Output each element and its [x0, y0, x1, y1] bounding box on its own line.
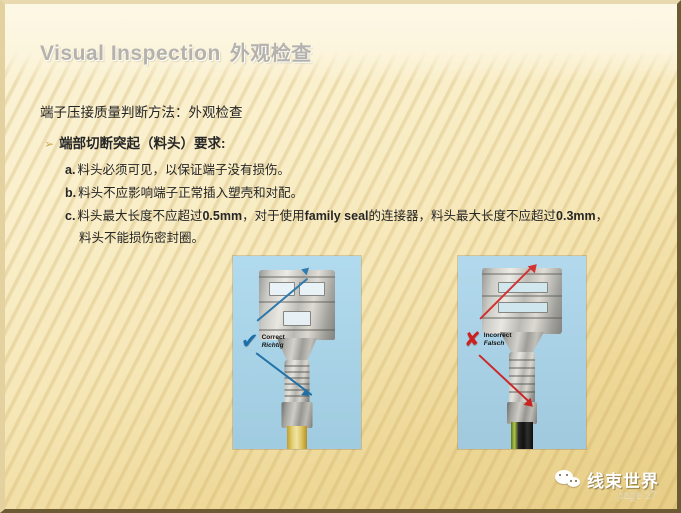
- list-item: c.料头最大长度不应超过0.5mm，对于使用family seal的连接器，料头…: [65, 205, 608, 224]
- list-item-index: b.: [65, 186, 76, 200]
- spec-value-max-length-seal: 0.3mm: [556, 209, 596, 223]
- terminal-rib: [259, 276, 335, 278]
- list-item-continuation: 料头不能损伤密封圈。: [79, 227, 204, 246]
- list-item: b.料头不应影响端子正常插入塑壳和对配。: [65, 182, 303, 201]
- spec-term-family-seal: family seal: [305, 209, 369, 223]
- list-item-index: a.: [65, 163, 75, 177]
- wire-insulation: [287, 426, 307, 449]
- spec-value-max-length: 0.5mm: [202, 209, 242, 223]
- arrow-bullet-icon: ➢: [44, 137, 54, 151]
- list-item-text: ，对于使用: [242, 209, 305, 223]
- check-icon: ✔: [241, 334, 259, 350]
- page-title: Visual Inspection外观检查: [40, 37, 312, 66]
- verdict-label-en: Correct: [262, 334, 285, 341]
- terminal-window: [269, 282, 295, 296]
- section-heading: 端子压接质量判断方法：外观检查: [40, 101, 243, 121]
- page-title-en: Visual Inspection: [40, 42, 221, 65]
- list-item-text: ，: [596, 209, 609, 223]
- list-item-text: 料头最大长度不应超过: [77, 209, 202, 223]
- insulation-crimp: [282, 402, 313, 428]
- verdict-incorrect: ✘ Incorrect Falsch: [464, 332, 512, 348]
- verdict-label-de: Richtig: [262, 342, 285, 350]
- requirement-bullet: ➢端部切断突起（料头）要求:: [44, 132, 226, 152]
- verdict-label: Correct Richtig: [262, 334, 285, 350]
- verdict-correct: ✔ Correct Richtig: [241, 334, 285, 350]
- footer-watermark: 线束世界 page 27: [555, 467, 659, 501]
- page-title-cn: 外观检查: [230, 43, 312, 65]
- terminal-window: [283, 311, 311, 326]
- verdict-label-de: Falsch: [484, 340, 512, 348]
- slide-canvas: Visual Inspection外观检查 端子压接质量判断方法：外观检查 ➢端…: [0, 0, 681, 513]
- wechat-icon: [555, 470, 581, 490]
- figure-correct-sample: ✔ Correct Richtig: [233, 256, 361, 449]
- figure-incorrect-sample: ✘ Incorrect Falsch: [458, 256, 586, 449]
- requirement-bullet-label: 端部切断突起（料头）要求:: [59, 136, 226, 151]
- list-item-text: 的连接器，料头最大长度不应超过: [369, 209, 557, 223]
- list-item-text: 料头必须可见，以保证端子没有损伤。: [77, 163, 290, 177]
- wire-insulation: [511, 422, 533, 449]
- verdict-label: Incorrect Falsch: [484, 332, 512, 348]
- terminal-window: [498, 302, 548, 313]
- terminal-window: [299, 282, 325, 296]
- list-item-index: c.: [65, 209, 75, 223]
- list-item-text: 料头不应影响端子正常插入塑壳和对配。: [78, 186, 303, 200]
- terminal-head: [259, 270, 335, 340]
- verdict-label-en: Incorrect: [484, 332, 512, 339]
- terminal-rib: [259, 329, 335, 331]
- list-item: a.料头必须可见，以保证端子没有损伤。: [65, 159, 290, 178]
- cross-icon: ✘: [464, 332, 481, 348]
- terminal-rib: [259, 301, 335, 303]
